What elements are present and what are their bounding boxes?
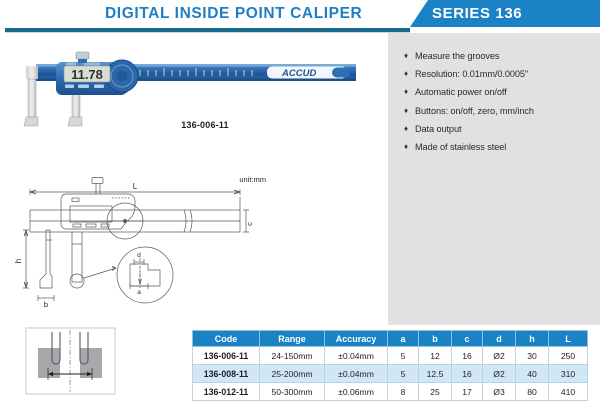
- header-divider-light: [5, 32, 410, 33]
- cell-h: 40: [516, 365, 549, 383]
- port-outline: [92, 178, 103, 184]
- cell-b: 25: [419, 383, 452, 401]
- lcd-value: 11.78: [71, 67, 103, 82]
- table-row: 136-008-11 25-200mm ±0.04mm 5 12.5 16 Ø2…: [193, 365, 588, 383]
- cell-d: Ø2: [483, 365, 516, 383]
- workpiece-right: [80, 348, 102, 378]
- lcd-outline: [70, 206, 112, 222]
- cell-d: Ø3: [483, 383, 516, 401]
- moving-jaw-point: [68, 117, 82, 126]
- cell-c: 16: [452, 347, 483, 365]
- diamond-bullet-icon: ♦: [404, 68, 415, 80]
- feature-label: Buttons: on/off, zero, mm/inch: [415, 105, 534, 117]
- product-part-number: 136-006-11: [150, 120, 260, 130]
- series-banner-text-wrap: SERIES 136: [418, 0, 600, 27]
- detail-view-circle: [117, 247, 173, 303]
- list-item: ♦ Automatic power on/off: [404, 86, 600, 98]
- dim-label-b: b: [44, 300, 48, 309]
- table-row: 136-006-11 24-150mm ±0.04mm 5 12 16 Ø2 3…: [193, 347, 588, 365]
- specification-table: Code Range Accuracy a b c d h L 136-006-…: [192, 330, 588, 401]
- cell-h: 80: [516, 383, 549, 401]
- list-item: ♦ Data output: [404, 123, 600, 135]
- cell-accuracy: ±0.06mm: [325, 383, 388, 401]
- cell-accuracy: ±0.04mm: [325, 347, 388, 365]
- column-header-accuracy: Accuracy: [325, 331, 388, 347]
- cell-L: 250: [549, 347, 588, 365]
- list-item: ♦ Measure the grooves: [404, 50, 600, 62]
- detail-leader-line: [84, 268, 116, 278]
- data-output-port: [76, 52, 89, 59]
- cell-b: 12: [419, 347, 452, 365]
- cell-accuracy: ±0.04mm: [325, 365, 388, 383]
- cell-range: 50-300mm: [260, 383, 325, 401]
- detail-jaw-profile: [130, 264, 160, 286]
- moving-jaw-outline: [72, 232, 82, 282]
- zero-button[interactable]: [78, 85, 89, 89]
- column-header-d: d: [483, 331, 516, 347]
- fixed-jaw-outline: [40, 230, 52, 288]
- column-header-h: h: [516, 331, 549, 347]
- cell-d: Ø2: [483, 347, 516, 365]
- workpiece-left: [38, 348, 60, 378]
- page-title: DIGITAL INSIDE POINT CALIPER: [105, 5, 362, 23]
- feature-label: Data output: [415, 123, 461, 135]
- diamond-bullet-icon: ♦: [404, 123, 415, 135]
- cell-code: 136-012-11: [193, 383, 260, 401]
- diamond-bullet-icon: ♦: [404, 105, 415, 117]
- cell-b: 12.5: [419, 365, 452, 383]
- page-header: DIGITAL INSIDE POINT CALIPER SERIES 136: [0, 0, 600, 33]
- cell-a: 8: [388, 383, 419, 401]
- cell-h: 30: [516, 347, 549, 365]
- cell-range: 24-150mm: [260, 347, 325, 365]
- cell-range: 25-200mm: [260, 365, 325, 383]
- mm-inch-button[interactable]: [94, 85, 104, 89]
- diamond-bullet-icon: ♦: [404, 141, 415, 153]
- onoff-button[interactable]: [65, 85, 74, 89]
- table-header-row: Code Range Accuracy a b c d h L: [193, 331, 588, 347]
- cell-L: 410: [549, 383, 588, 401]
- list-item: ♦ Resolution: 0.01mm/0.0005": [404, 68, 600, 80]
- diamond-bullet-icon: ♦: [404, 50, 415, 62]
- cell-code: 136-006-11: [193, 347, 260, 365]
- unit-label: unit:mm: [239, 175, 266, 184]
- technical-drawing: unit:mm L c: [8, 168, 270, 313]
- dim-label-c: c: [245, 222, 254, 226]
- column-header-c: c: [452, 331, 483, 347]
- detail-label-d: d: [137, 252, 141, 259]
- list-item: ♦ Made of stainless steel: [404, 141, 600, 153]
- cell-a: 5: [388, 347, 419, 365]
- series-label: SERIES 136: [418, 5, 522, 22]
- cell-code: 136-008-11: [193, 365, 260, 383]
- feature-label: Measure the grooves: [415, 50, 499, 62]
- column-header-L: L: [549, 331, 588, 347]
- cell-c: 17: [452, 383, 483, 401]
- fixed-jaw-arm: [28, 79, 36, 117]
- table-row: 136-012-11 50-300mm ±0.06mm 8 25 17 Ø3 8…: [193, 383, 588, 401]
- fixed-jaw-base: [26, 66, 38, 79]
- column-header-code: Code: [193, 331, 260, 347]
- brand-label: ACCUD: [281, 68, 316, 79]
- feature-label: Made of stainless steel: [415, 141, 506, 153]
- diamond-bullet-icon: ♦: [404, 86, 415, 98]
- feature-label: Resolution: 0.01mm/0.0005": [415, 68, 528, 80]
- column-header-a: a: [388, 331, 419, 347]
- catalog-page: DIGITAL INSIDE POINT CALIPER SERIES 136 …: [0, 0, 600, 407]
- cell-c: 16: [452, 365, 483, 383]
- cell-a: 5: [388, 365, 419, 383]
- dim-label-h: h: [14, 259, 23, 263]
- column-header-b: b: [419, 331, 452, 347]
- feature-label: Automatic power on/off: [415, 86, 507, 98]
- dim-label-L: L: [133, 182, 138, 191]
- detail-label-a: a: [137, 289, 141, 296]
- cell-L: 310: [549, 365, 588, 383]
- application-diagram: [18, 322, 123, 400]
- column-header-range: Range: [260, 331, 325, 347]
- features-list: ♦ Measure the grooves ♦ Resolution: 0.01…: [404, 50, 600, 159]
- fixed-jaw-point: [24, 117, 38, 126]
- list-item: ♦ Buttons: on/off, zero, mm/inch: [404, 105, 600, 117]
